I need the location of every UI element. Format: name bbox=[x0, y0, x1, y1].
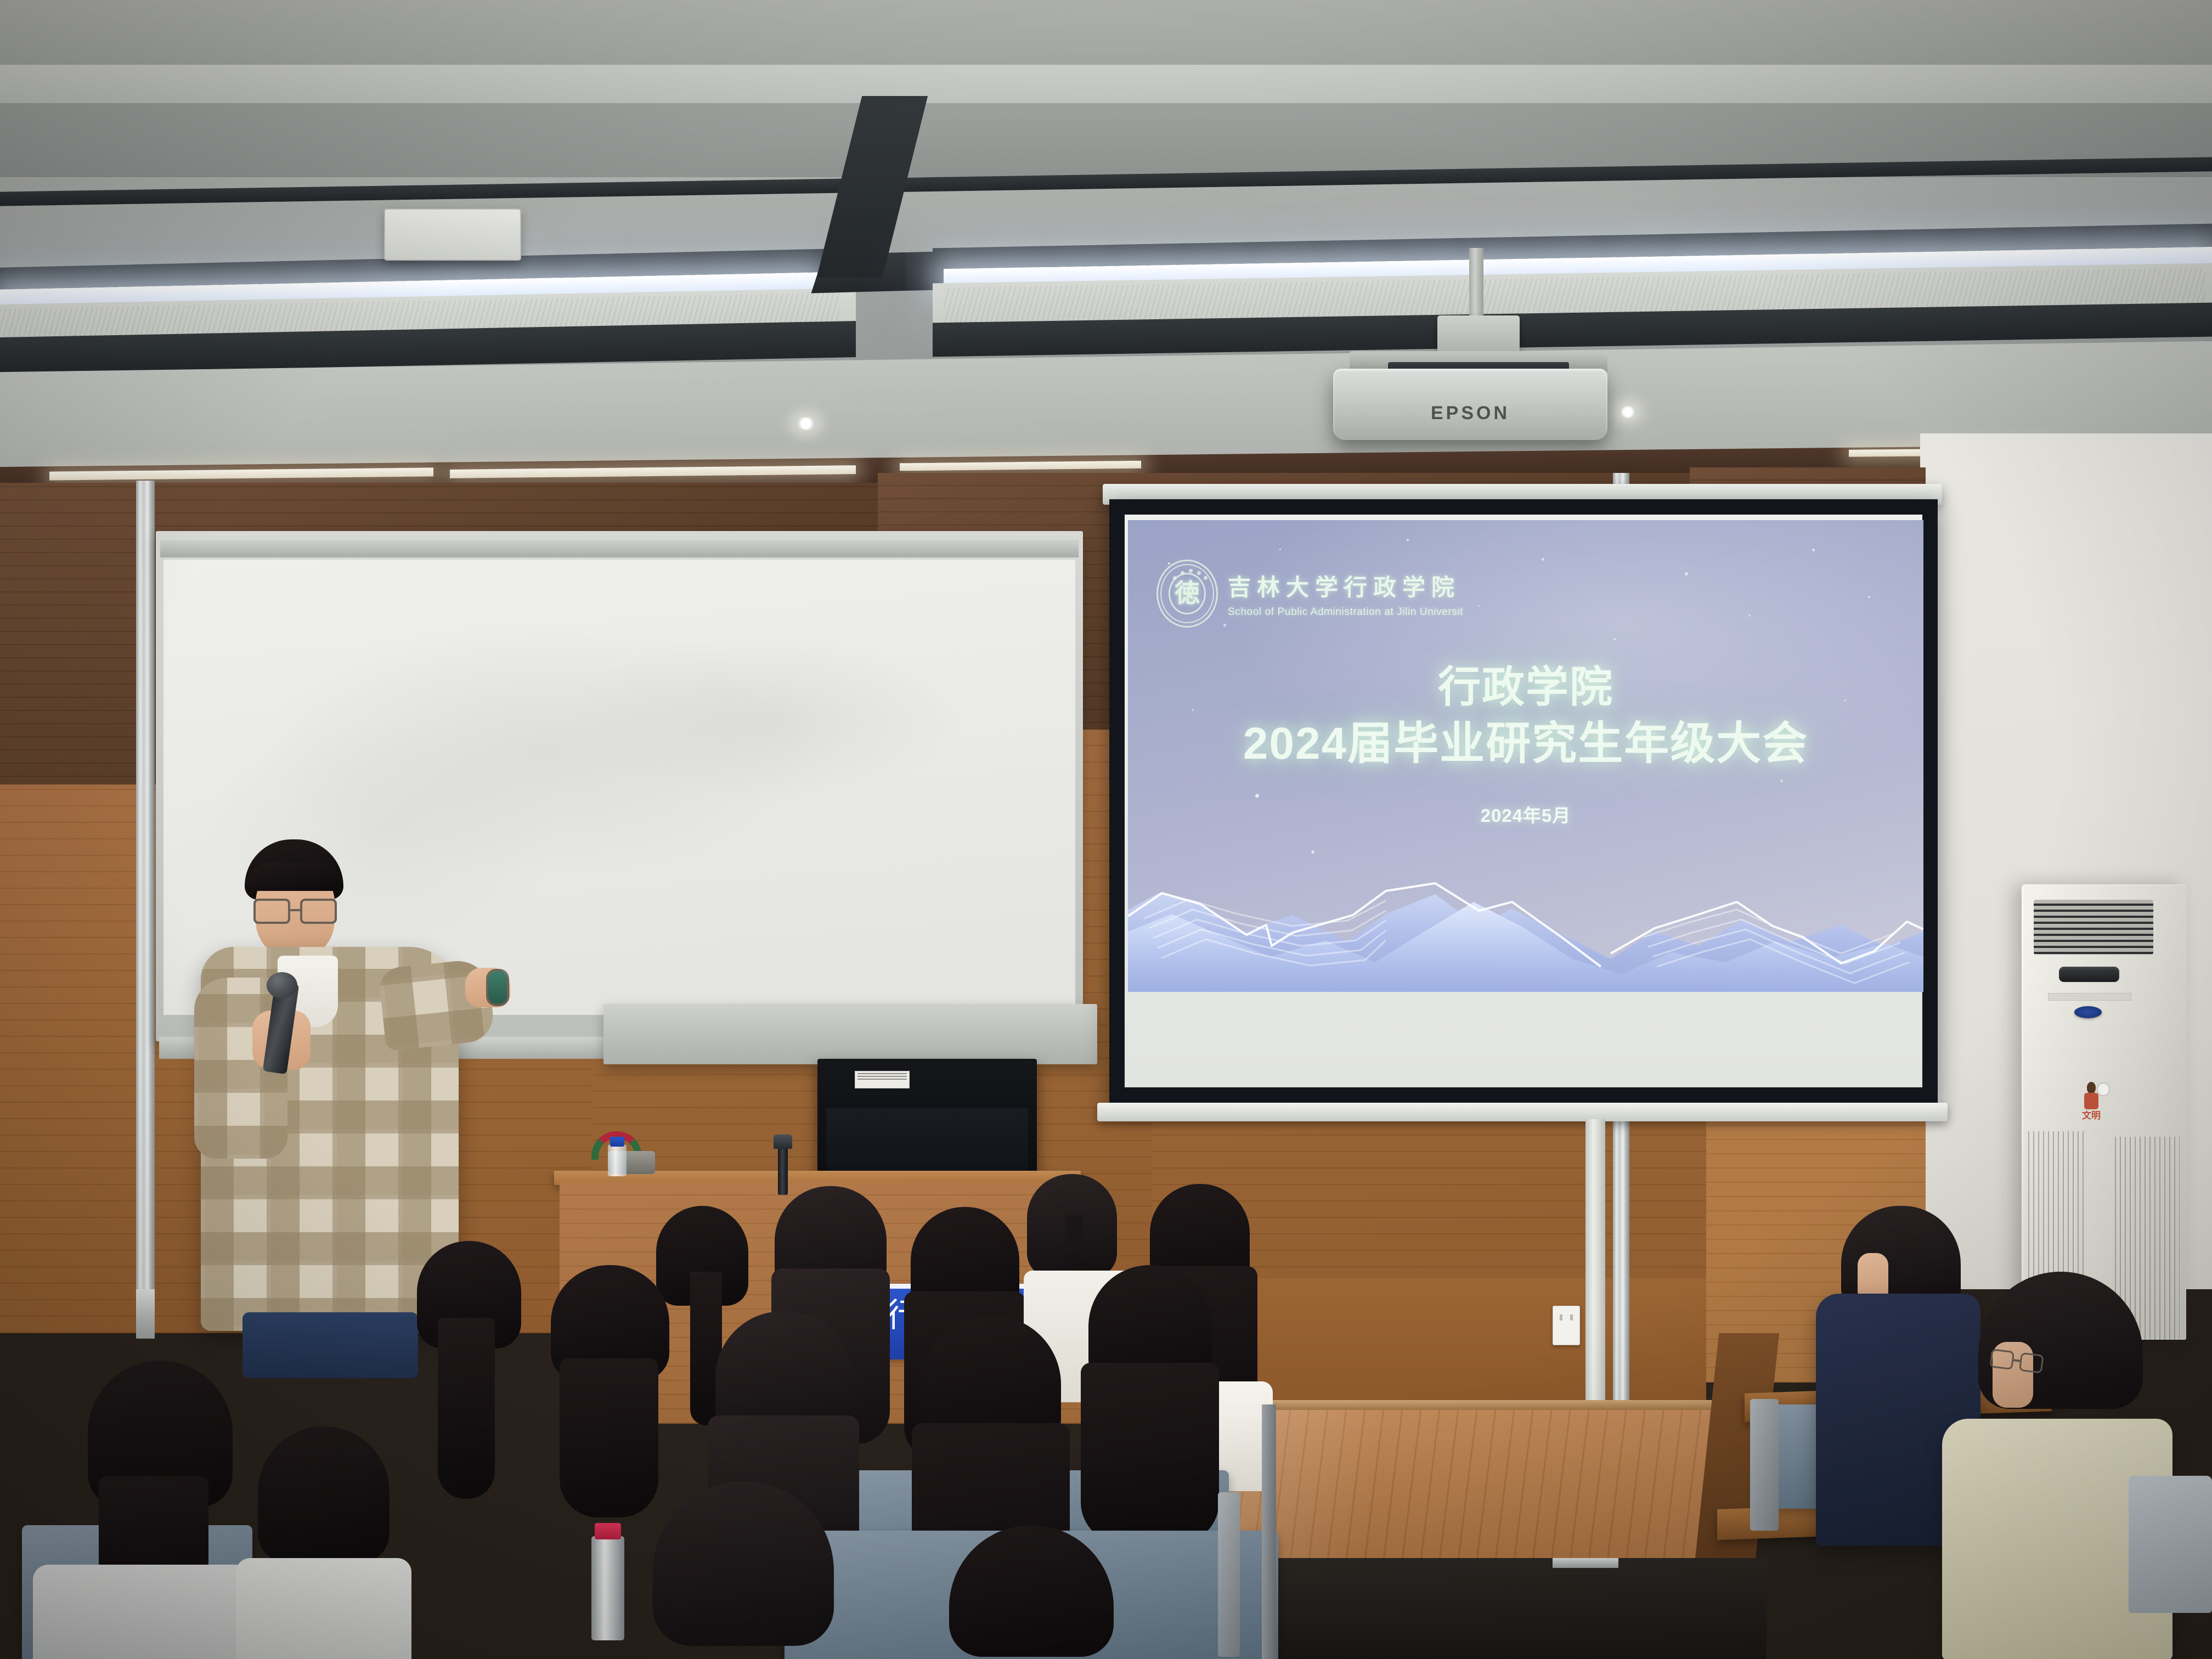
audience-handbag bbox=[2129, 1476, 2212, 1613]
water-bottle-cap bbox=[610, 1137, 624, 1147]
projector-body: EPSON bbox=[1333, 369, 1607, 440]
ac-brand-badge bbox=[2074, 1006, 2102, 1018]
ac-display-panel[interactable] bbox=[2059, 967, 2119, 982]
projector-brand-label: EPSON bbox=[1333, 403, 1607, 424]
lecture-hall-photo: EPSON bbox=[0, 0, 2212, 1659]
microphone-stand-clip bbox=[774, 1135, 792, 1149]
ceiling-speaker-box bbox=[384, 208, 521, 261]
wall-column-left bbox=[136, 481, 155, 1336]
whiteboard-top-rail bbox=[160, 540, 1079, 557]
slide-title-line2: 2024届毕业研究生年级大会 bbox=[1128, 718, 1923, 771]
audience-hoodie bbox=[236, 1558, 411, 1659]
wall-column-left-base bbox=[136, 1289, 155, 1339]
ceiling-downlight-1 bbox=[795, 417, 816, 430]
seat-support-post bbox=[1262, 1404, 1276, 1659]
audience-member bbox=[927, 1525, 1136, 1659]
audience-water-bottle bbox=[591, 1536, 624, 1640]
microphone-head bbox=[267, 972, 297, 998]
ceiling-band-top bbox=[0, 0, 2212, 65]
slide-date: 2024年5月 bbox=[1128, 801, 1923, 827]
audience-member bbox=[400, 1241, 538, 1515]
hair-clip bbox=[1065, 1216, 1083, 1248]
ac-sticker: 文明 bbox=[2072, 1082, 2111, 1121]
audience-member bbox=[625, 1481, 861, 1659]
ceiling-downlight-2 bbox=[1618, 406, 1637, 418]
lectern-asset-label bbox=[855, 1071, 910, 1088]
water-bottle bbox=[608, 1144, 627, 1176]
screen-bottom-bar bbox=[1097, 1103, 1948, 1121]
slide-logo: 徳 吉林大学行政学院 School of Public Administrati… bbox=[1156, 560, 1463, 628]
seal-glyph: 徳 bbox=[1175, 581, 1200, 606]
ac-air-grille bbox=[2034, 900, 2153, 955]
speaker-fringe bbox=[246, 862, 342, 891]
seat-armrest bbox=[1750, 1399, 1779, 1531]
stage-step-strip bbox=[1553, 1558, 1618, 1568]
slide-title-line1: 行政学院 bbox=[1128, 662, 1923, 712]
ceiling-band-bright bbox=[0, 65, 2212, 103]
audience-water-bottle-cap bbox=[595, 1523, 621, 1539]
slide-logo-cn: 吉林大学行政学院 bbox=[1228, 569, 1463, 602]
seat-armrest bbox=[1218, 1492, 1240, 1657]
ac-notice-strip bbox=[2048, 993, 2131, 1001]
ac-sticker-caption: 文明 bbox=[2072, 1108, 2111, 1121]
projected-slide: 徳 吉林大学行政学院 School of Public Administrati… bbox=[1128, 520, 1923, 992]
audience-member bbox=[1070, 1265, 1229, 1561]
school-seal-icon: 徳 bbox=[1156, 560, 1218, 628]
speaker-glasses bbox=[253, 899, 337, 924]
power-outlet[interactable] bbox=[1553, 1306, 1580, 1345]
audience-member bbox=[236, 1426, 411, 1659]
speaker-wristwatch bbox=[488, 971, 507, 1004]
whiteboard-lower-panel bbox=[603, 1004, 1097, 1064]
slide-logo-en: School of Public Administration at Jilin… bbox=[1228, 606, 1463, 618]
slide-mountain-graphic bbox=[1128, 849, 1923, 992]
